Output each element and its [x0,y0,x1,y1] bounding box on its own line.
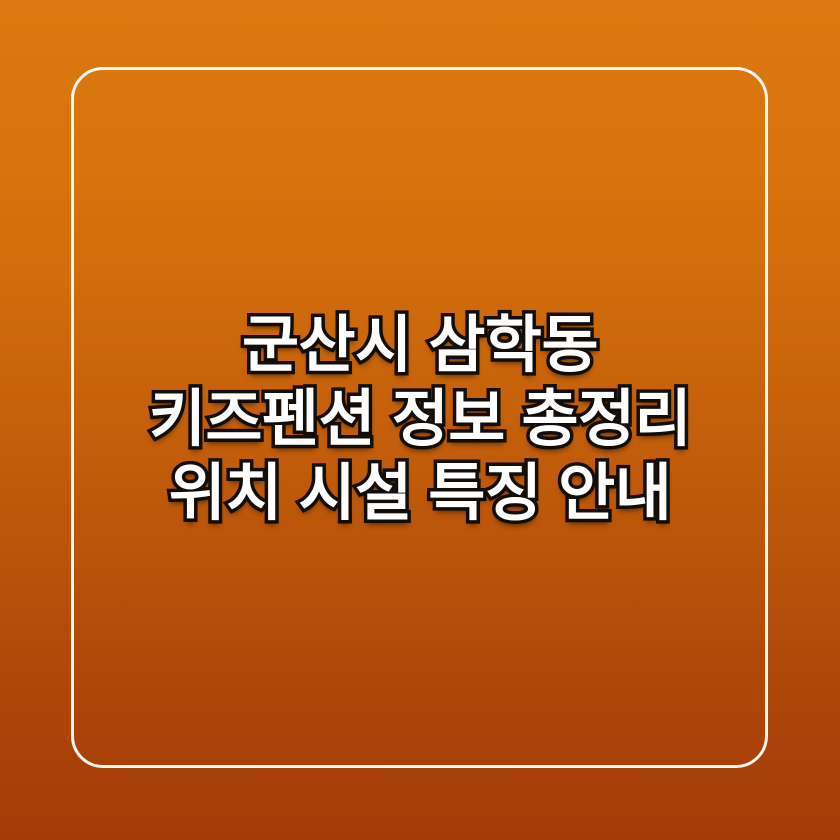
thumbnail-card: 군산시 삼학동 키즈펜션 정보 총정리 위치 시설 특징 안내 [0,0,840,840]
title-line-3: 위치 시설 특징 안내 [0,457,840,531]
title-line-1: 군산시 삼학동 [0,309,840,383]
title-line-2: 키즈펜션 정보 총정리 [0,383,840,457]
title-block: 군산시 삼학동 키즈펜션 정보 총정리 위치 시설 특징 안내 [0,0,840,840]
